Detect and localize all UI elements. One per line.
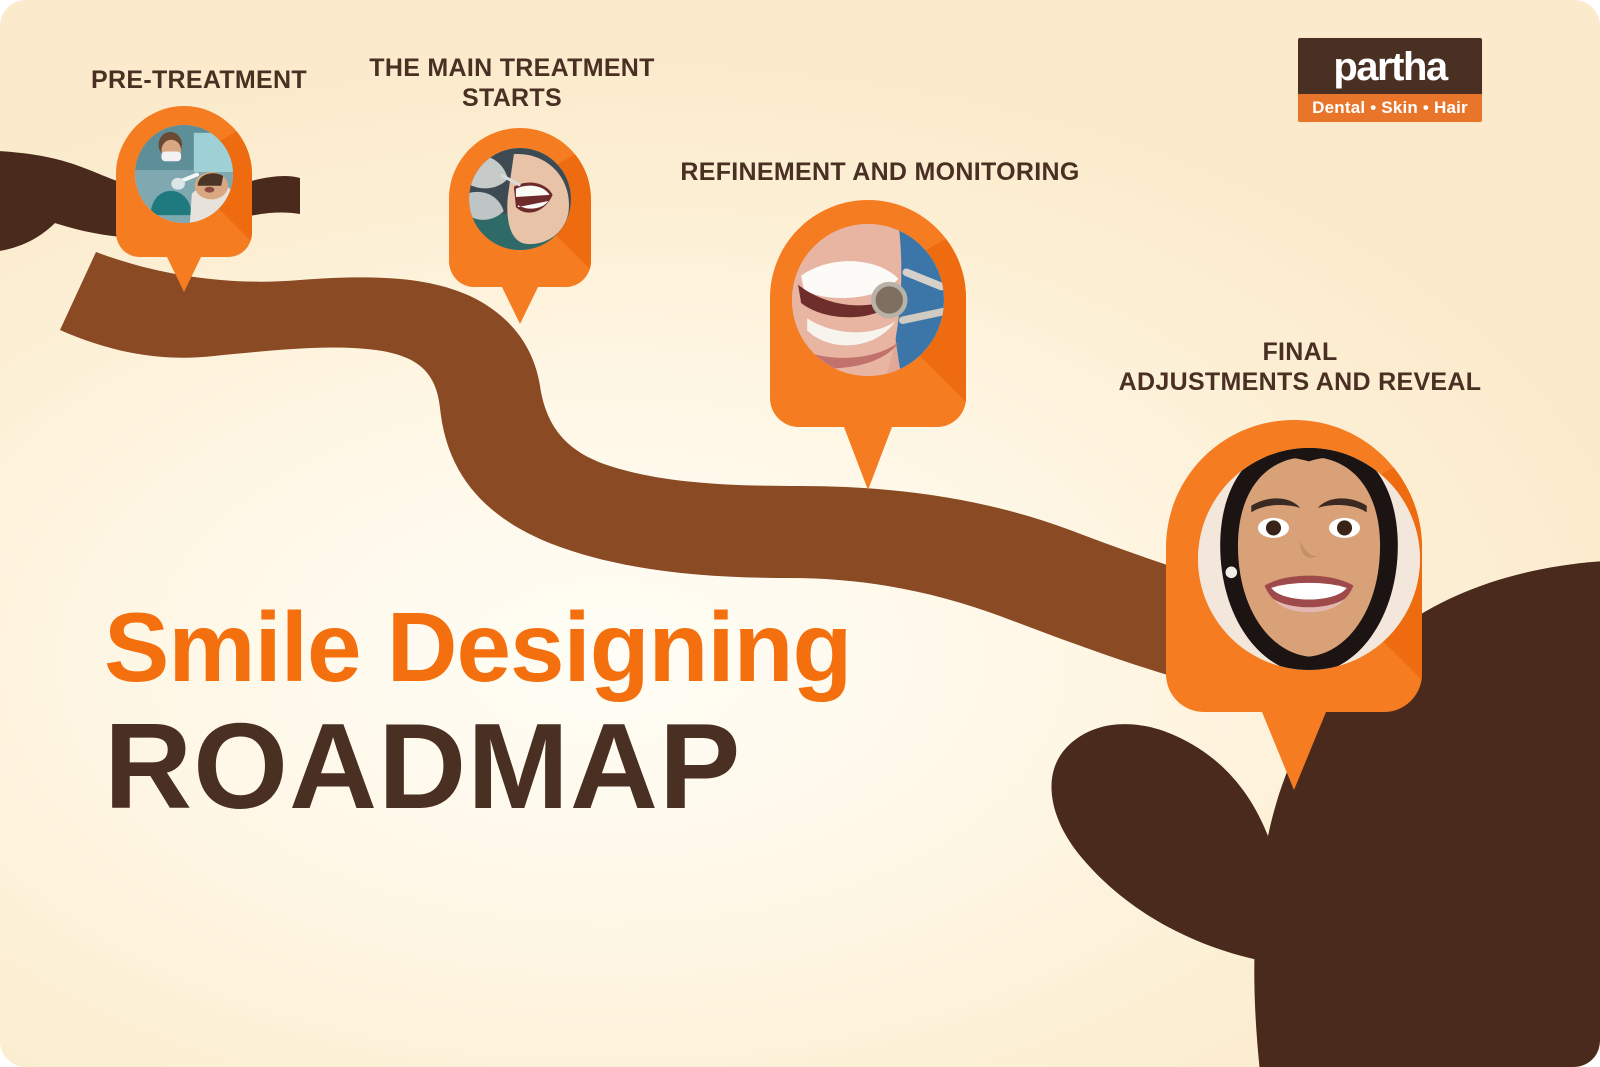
logo-tagline-block: Dental • Skin • Hair: [1298, 94, 1482, 122]
brand-logo[interactable]: partha Dental • Skin • Hair: [1298, 38, 1482, 122]
title-line-1: Smile Designing: [104, 600, 964, 694]
step-label-2: THE MAIN TREATMENT STARTS: [366, 54, 658, 113]
step-photo-1: [135, 125, 233, 223]
step-label-1: PRE-TREATMENT: [68, 66, 330, 96]
step-label-3: REFINEMENT AND MONITORING: [660, 158, 1100, 188]
page-title: Smile Designing ROADMAP: [104, 600, 964, 825]
step-photo-3: [792, 224, 944, 376]
logo-tagline-text: Dental • Skin • Hair: [1306, 99, 1474, 116]
step-photo-2: [469, 148, 571, 250]
step-label-4: FINAL ADJUSTMENTS AND REVEAL: [1080, 338, 1520, 397]
logo-wordmark-text: partha: [1308, 47, 1472, 87]
step-pin-3[interactable]: [770, 200, 966, 490]
roadmap-infographic: PRE-TREATMENT: [0, 0, 1600, 1067]
logo-wordmark-block: partha: [1298, 38, 1482, 94]
step-pin-4[interactable]: [1166, 420, 1422, 790]
title-line-2: ROADMAP: [104, 708, 964, 825]
step-photo-4: [1198, 448, 1420, 670]
step-pin-2[interactable]: [449, 128, 591, 324]
step-pin-1[interactable]: [116, 106, 252, 292]
